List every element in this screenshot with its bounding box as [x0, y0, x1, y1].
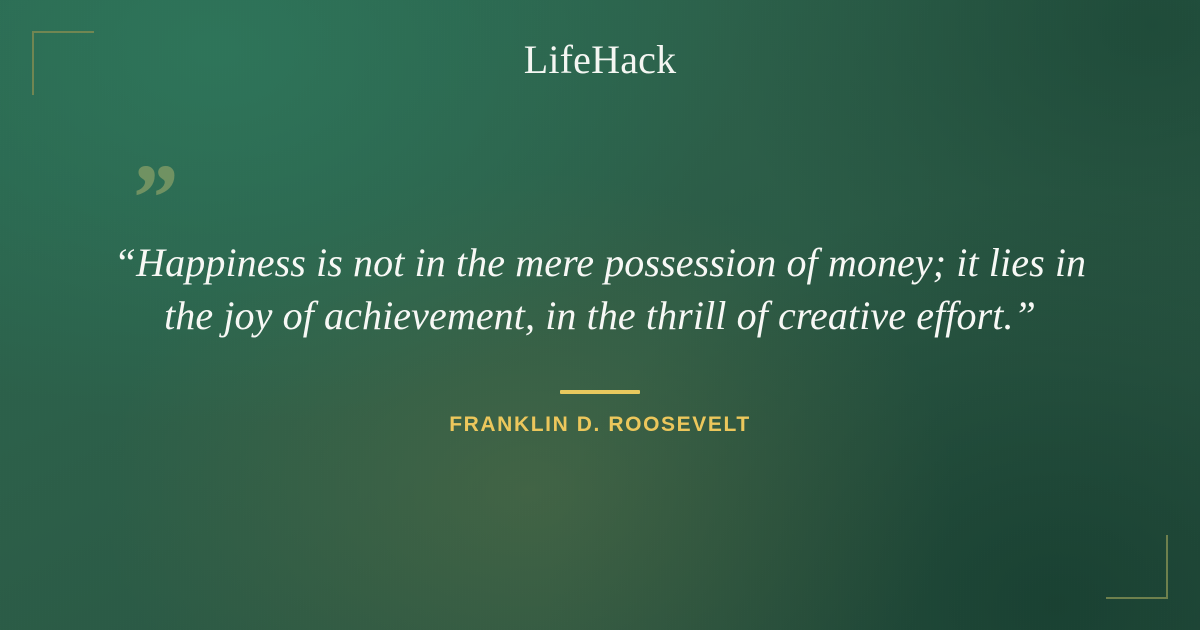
- quote-card: LifeHack ” “Happiness is not in the mere…: [0, 0, 1200, 630]
- corner-bracket-bottom-right-icon: [1106, 535, 1168, 599]
- brand-logo: LifeHack: [0, 38, 1200, 82]
- author-container: FRANKLIN D. ROOSEVELT: [0, 412, 1200, 438]
- gold-divider: [560, 390, 640, 394]
- quote-author: FRANKLIN D. ROOSEVELT: [0, 412, 1200, 438]
- quote-text: “Happiness is not in the mere possession…: [100, 236, 1100, 342]
- quote-block: “Happiness is not in the mere possession…: [100, 236, 1100, 342]
- divider-container: [0, 381, 1200, 399]
- quotation-mark-icon: ”: [128, 150, 172, 246]
